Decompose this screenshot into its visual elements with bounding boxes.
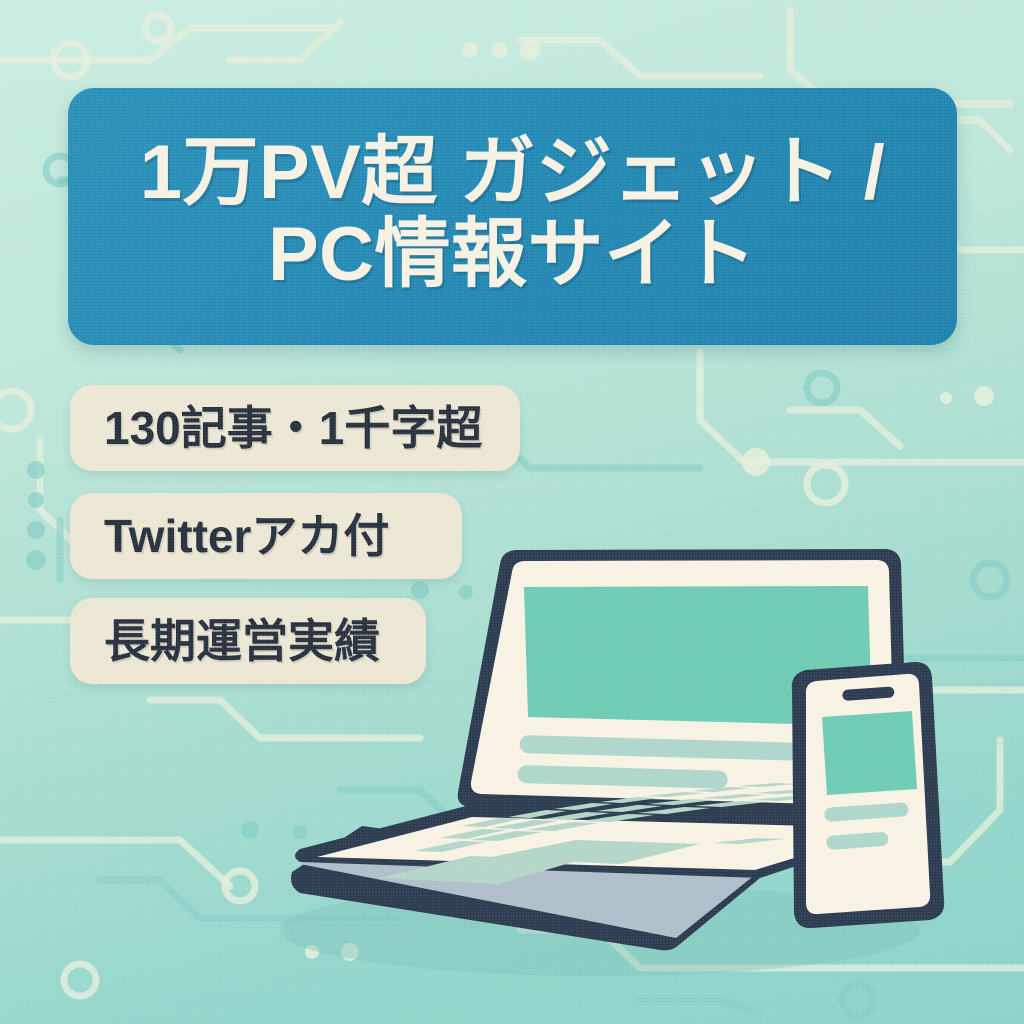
title-line-2: PC情報サイト [268, 214, 757, 295]
feature-badge-label: 長期運営実績 [104, 618, 380, 664]
feature-badge-label: Twitterアカ付 [104, 513, 389, 559]
smartphone [792, 662, 944, 928]
phone-screen-block [822, 711, 917, 795]
title-banner: 1万PV超 ガジェット / PC情報サイト [68, 88, 957, 345]
feature-badge-track-record: 長期運営実績 [70, 598, 426, 684]
feature-badge-articles: 130記事・1千字超 [70, 385, 520, 471]
feature-badge-twitter: Twitterアカ付 [70, 493, 462, 579]
poster-canvas: 1万PV超 ガジェット / PC情報サイト 130記事・1千字超 Twitter… [0, 0, 1024, 1024]
title-line-1: 1万PV超 ガジェット / [140, 132, 886, 213]
feature-badge-label: 130記事・1千字超 [104, 405, 482, 451]
